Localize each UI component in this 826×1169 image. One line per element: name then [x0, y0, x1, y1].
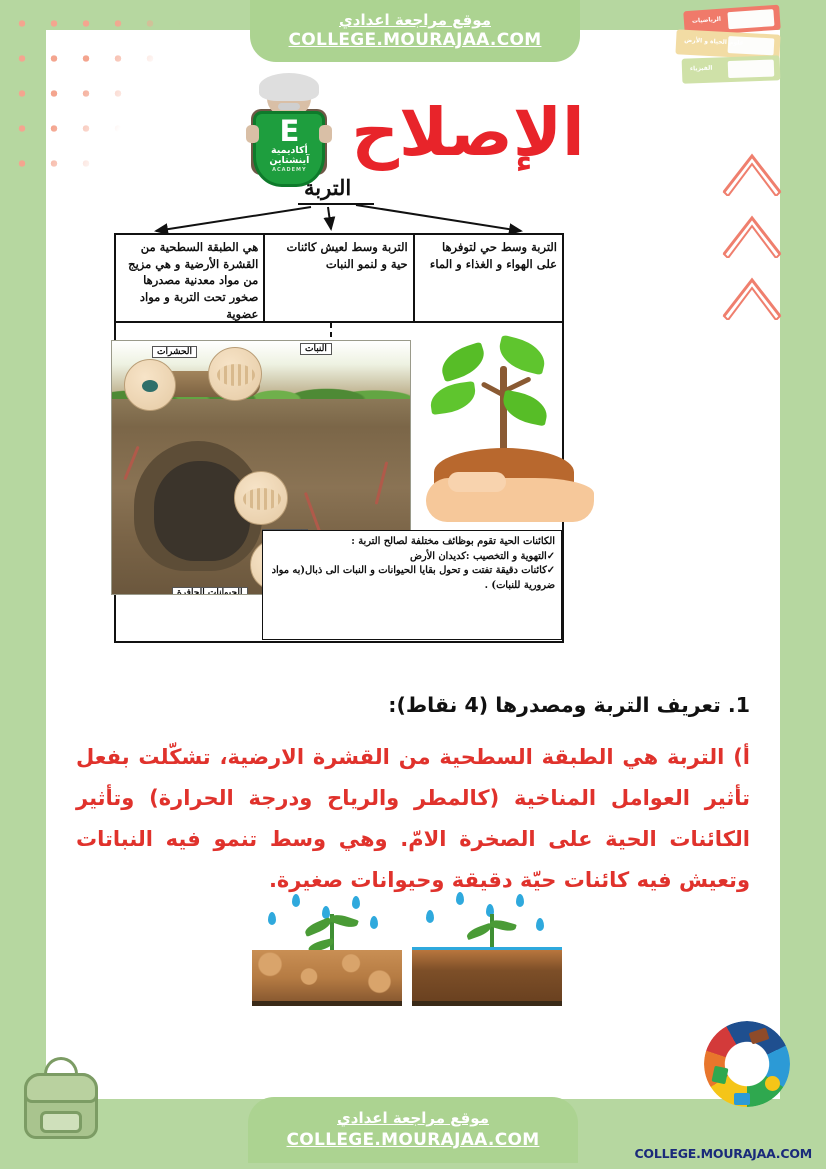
book-page-edge	[727, 9, 774, 29]
academy-letter: E	[279, 117, 299, 146]
einstein-moustache	[278, 103, 300, 110]
einstein-hand-left	[246, 125, 259, 143]
rain-drop	[426, 910, 434, 923]
backpack-flap	[24, 1073, 98, 1103]
soil-water-illustrations	[246, 890, 566, 1025]
explanation-intro: الكائنات الحية تقوم بوظائف مختلفة لصالح …	[269, 535, 555, 550]
watermark-url: COLLEGE.MOURAJAA.COM	[634, 1146, 812, 1161]
hand-holding-seedling-illustration	[426, 340, 601, 525]
logo-flask-icon	[765, 1076, 780, 1091]
seedling-leaf	[428, 381, 477, 415]
diagram-explanation-box: الكائنات الحية تقوم بوظائف مختلفة لصالح …	[262, 530, 562, 640]
footer-site-url[interactable]: COLLEGE.MOURAJAA.COM	[287, 1129, 540, 1151]
book-icon-green: الفيزياء	[682, 55, 781, 83]
explanation-bullet-2: ✓كائنات دقيقة تفتت و تحول بقايا الحيوانا…	[269, 564, 555, 593]
magnifier-insects	[124, 359, 176, 411]
photo-label-burrowing-animals: الحيوانات الحافرة	[172, 587, 248, 595]
books-stack-icon: الرياضيات علوم الحياة و الأرض الفيزياء	[672, 8, 792, 100]
footer-site-ribbon[interactable]: موقع مراجعة اعدادي COLLEGE.MOURAJAA.COM	[248, 1097, 578, 1163]
rain-drop	[456, 892, 464, 905]
chevron-up-icon	[720, 212, 784, 258]
logo-pencil-icon	[734, 1093, 750, 1105]
photo-label-insects: الحشرات	[152, 346, 197, 358]
diagram-title-underline	[298, 203, 374, 205]
magnifier-fungi	[234, 471, 288, 525]
title-row: E أكاديمية آينشتاين ACADEMY الإصلاح	[46, 78, 780, 188]
rain-drop	[536, 918, 544, 931]
seedling-leaf	[437, 342, 489, 383]
content-sheet: E أكاديمية آينشتاين ACADEMY الإصلاح التر…	[46, 30, 780, 1099]
book-label-1: الرياضيات	[692, 16, 721, 25]
impermeable-soil-illustration	[412, 890, 562, 1010]
rain-drop	[516, 894, 524, 907]
academy-shield: E أكاديمية آينشتاين ACADEMY	[253, 111, 325, 187]
answer-paragraph: أ) التربة هي الطبقة السطحية من القشرة ال…	[76, 737, 750, 901]
hand-thumb	[448, 472, 506, 492]
diagram-box-living-medium: التربة وسط حي لتوفرها على الهواء و الغذا…	[415, 235, 562, 321]
diagram-box-definition: هي الطبقة السطحية من القشرة الأرضية و هي…	[116, 235, 265, 321]
seedling-leaf	[500, 390, 551, 427]
magnifier-roots	[208, 347, 262, 401]
root-detail-icon	[217, 364, 255, 386]
photo-label-plant: النبات	[300, 343, 332, 355]
earthworm	[123, 446, 139, 481]
academy-subtitle: ACADEMY	[272, 167, 307, 173]
fungi-icon	[243, 488, 281, 510]
earthworm	[375, 461, 389, 504]
question-heading: 1. تعريف التربة ومصدرها (4 نقاط):	[76, 690, 750, 721]
permeable-soil-illustration	[252, 890, 402, 1010]
page-title: الإصلاح	[351, 100, 584, 166]
rain-drop	[370, 916, 378, 929]
soil-layer-impermeable	[412, 950, 562, 1006]
backpack-pocket	[40, 1111, 82, 1133]
soil-concept-diagram: التربة التربة وسط حي لتوفرها على الهوا	[66, 175, 566, 655]
einstein-hand-right	[319, 125, 332, 143]
header-site-url[interactable]: COLLEGE.MOURAJAA.COM	[289, 30, 542, 51]
book-label-3: الفيزياء	[690, 65, 713, 73]
einstein-hair	[259, 73, 319, 101]
mole-animal	[154, 461, 250, 561]
diagram-box-row: التربة وسط حي لتوفرها على الهواء و الغذا…	[114, 233, 564, 323]
book-page-edge	[728, 60, 775, 79]
header-site-ribbon[interactable]: موقع مراجعة اعدادي COLLEGE.MOURAJAA.COM	[250, 0, 580, 62]
rain-drop	[268, 912, 276, 925]
soil-layer-permeable	[252, 950, 402, 1006]
insect-icon	[142, 380, 158, 392]
chevron-up-icon	[720, 274, 784, 320]
explanation-bullet-1: ✓التهوية و التخصيب :كديدان الأرض	[269, 550, 555, 565]
backpack-icon	[16, 1055, 108, 1147]
academy-name-line2: آينشتاين	[269, 156, 309, 166]
einstein-academy-logo: E أكاديمية آينشتاين ACADEMY	[241, 77, 337, 189]
main-answer-section: 1. تعريف التربة ومصدرها (4 نقاط): أ) الت…	[76, 690, 750, 901]
page-background: الرياضيات علوم الحياة و الأرض الفيزياء	[0, 0, 826, 1169]
header-site-arabic: موقع مراجعة اعدادي	[339, 11, 491, 30]
diagram-box-life-medium: التربة وسط لعيش كائنات حية و لنمو النبات	[265, 235, 414, 321]
footer-site-arabic: موقع مراجعة اعدادي	[337, 1109, 489, 1129]
education-circle-logo-icon	[704, 1021, 790, 1107]
rain-drop	[292, 894, 300, 907]
